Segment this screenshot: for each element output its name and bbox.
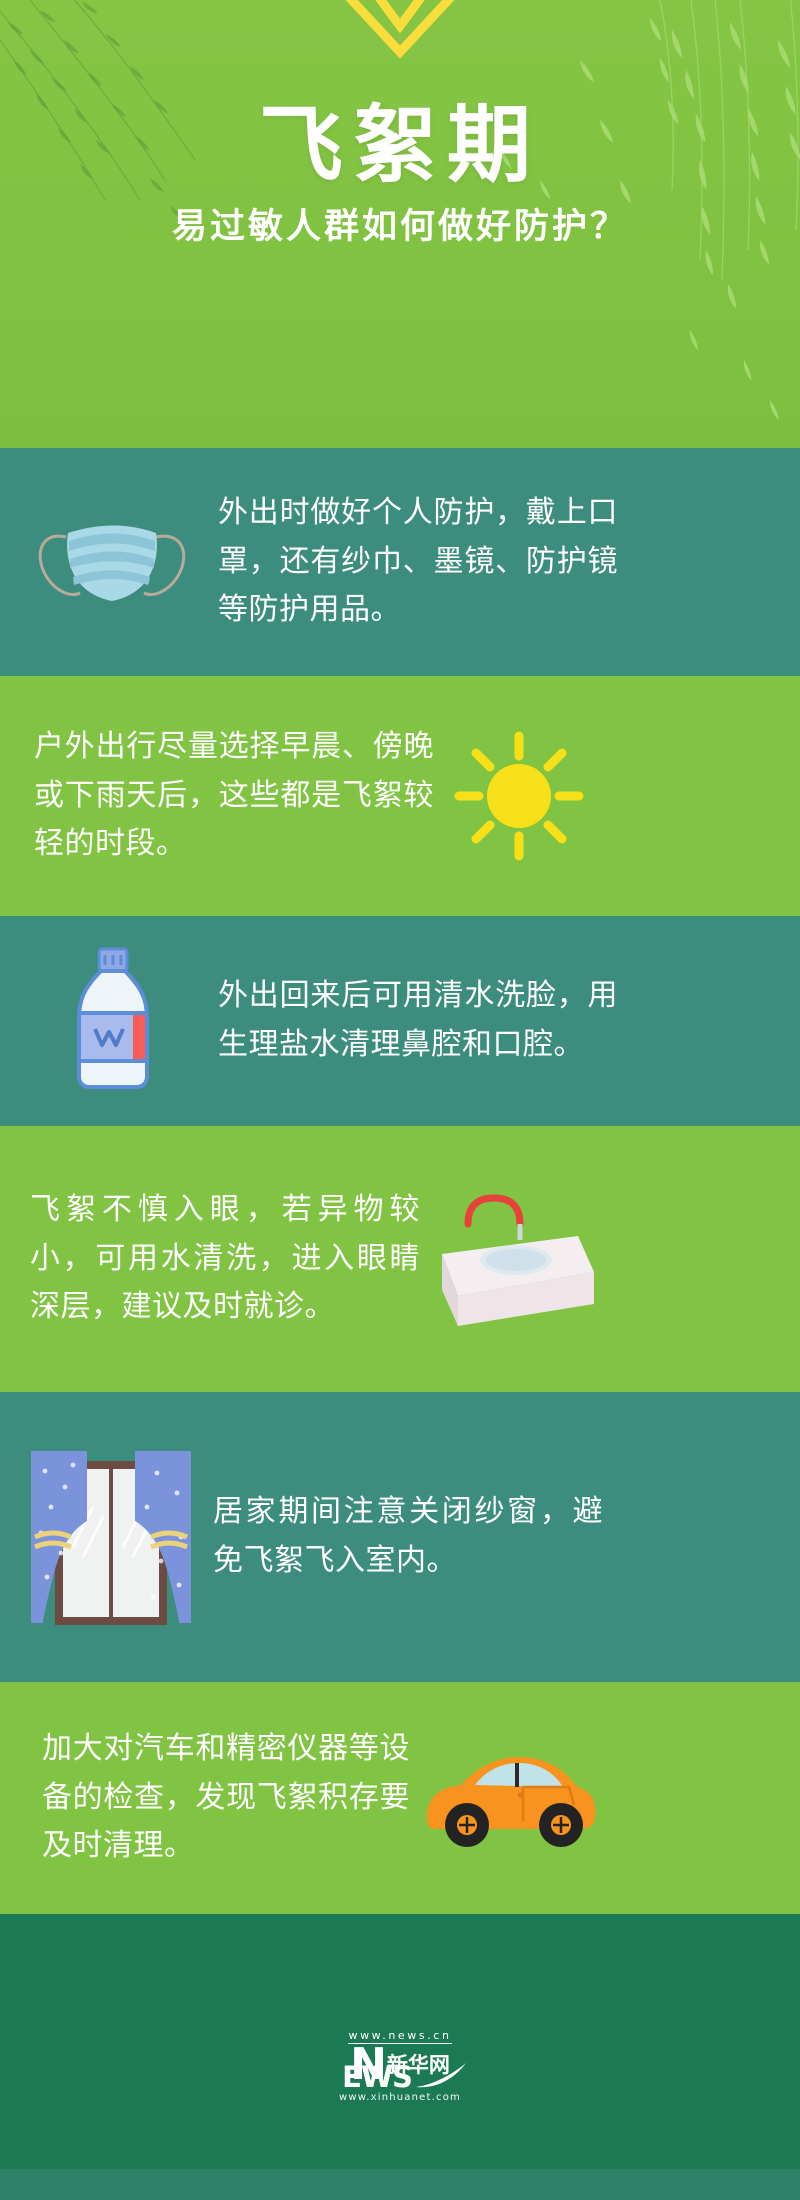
tip-text-5: 居家期间注意关闭纱窗，避免飞絮飞入室内。 — [213, 1488, 603, 1585]
tip-text-2: 户外出行尽量选择早晨、傍晚或下雨天后，这些都是飞絮较轻的时段。 — [34, 723, 434, 869]
window-curtain-icon — [8, 1437, 213, 1637]
page-subtitle: 易过敏人群如何做好防护？ — [0, 198, 800, 249]
infographic-page: 飞絮期 易过敏人群如何做好防护？ 外出时做好个人防护，戴上口罩，还有纱巾、墨镜、… — [0, 0, 800, 2200]
water-bottle-icon — [8, 941, 218, 1101]
sink-faucet-icon — [420, 1184, 610, 1334]
xinhua-logo[interactable]: www.news.cn N 新华网 EWS www.xinhuanet.com — [332, 2026, 468, 2103]
face-mask-icon — [8, 497, 218, 627]
logo-word-ews: EWS — [342, 2065, 412, 2090]
tip-block-5: 居家期间注意关闭纱窗，避免飞絮飞入室内。 — [0, 1392, 800, 1682]
tip-text-3: 外出回来后可用清水洗脸，用生理盐水清理鼻腔和口腔。 — [218, 972, 618, 1069]
chevron-down-icon — [340, 0, 460, 66]
tip-block-2: 户外出行尽量选择早晨、傍晚或下雨天后，这些都是飞絮较轻的时段。 — [0, 676, 800, 916]
tip-block-1: 外出时做好个人防护，戴上口罩，还有纱巾、墨镜、防护镜等防护用品。 — [0, 448, 800, 676]
sun-icon — [434, 726, 604, 866]
page-title: 飞絮期 — [0, 78, 800, 199]
logo-url-bottom: www.xinhuanet.com — [332, 2092, 468, 2103]
tip-block-4: 飞絮不慎入眼，若异物较小，可用水清洗，进入眼睛深层，建议及时就诊。 — [0, 1126, 800, 1392]
tip-block-3: 外出回来后可用清水洗脸，用生理盐水清理鼻腔和口腔。 — [0, 916, 800, 1126]
footer: www.news.cn N 新华网 EWS www.xinhuanet.com — [0, 1914, 800, 2169]
logo-swoosh-icon — [414, 2063, 468, 2089]
tip-block-6: 加大对汽车和精密仪器等设备的检查，发现飞絮积存要及时清理。 — [0, 1682, 800, 1914]
hero-banner: 飞絮期 易过敏人群如何做好防护？ — [0, 0, 800, 448]
tip-text-4: 飞絮不慎入眼，若异物较小，可用水清洗，进入眼睛深层，建议及时就诊。 — [30, 1186, 420, 1332]
tip-text-6: 加大对汽车和精密仪器等设备的检查，发现飞絮积存要及时清理。 — [42, 1725, 410, 1871]
car-icon — [410, 1743, 610, 1853]
tip-text-1: 外出时做好个人防护，戴上口罩，还有纱巾、墨镜、防护镜等防护用品。 — [218, 489, 618, 635]
